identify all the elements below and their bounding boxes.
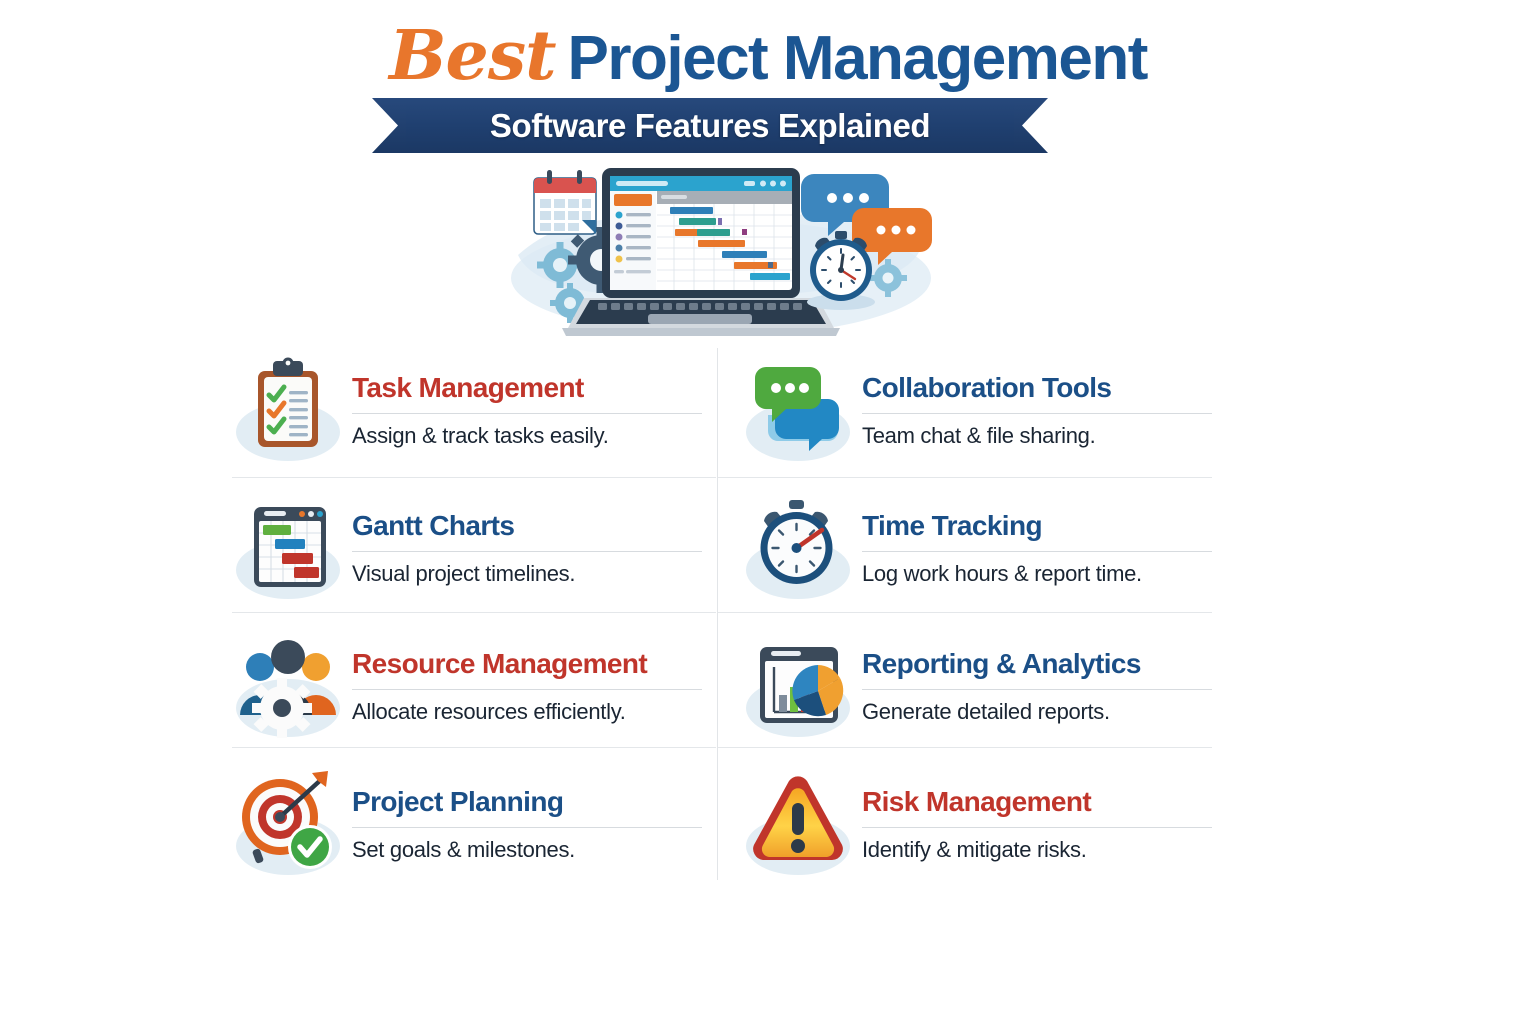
title-underline [862, 413, 1212, 414]
stopwatch-icon [742, 491, 858, 607]
feature-title: Time Tracking [862, 511, 1212, 540]
title-underline [352, 413, 702, 414]
warning-triangle-icon [742, 767, 858, 883]
hero-svg [498, 160, 944, 342]
feature-card-project-planning[interactable]: Project Planning Set goals & milestones. [232, 760, 702, 890]
feature-description: Allocate resources efficiently. [352, 699, 702, 725]
people-gear-icon [232, 629, 348, 745]
laptop-gantt-illustration [498, 160, 944, 342]
speech-bubbles-icon [742, 353, 858, 469]
title-main-words: Project Management [568, 24, 1147, 93]
feature-description: Generate detailed reports. [862, 699, 1212, 725]
feature-title: Reporting & Analytics [862, 649, 1212, 678]
feature-description: Set goals & milestones. [352, 837, 702, 863]
title-underline [352, 551, 702, 552]
laptop-gantt-screen [562, 168, 840, 336]
title-underline [862, 827, 1212, 828]
feature-card-time-tracking[interactable]: Time Tracking Log work hours & report ti… [742, 484, 1212, 614]
feature-card-gantt-charts[interactable]: Gantt Charts Visual project timelines. [232, 484, 702, 614]
feature-description: Log work hours & report time. [862, 561, 1212, 587]
ribbon-label: Software Features Explained [406, 98, 1014, 153]
clipboard-checklist-icon [232, 353, 348, 469]
feature-title: Risk Management [862, 787, 1212, 816]
row-divider [232, 477, 716, 478]
feature-title: Gantt Charts [352, 511, 702, 540]
feature-card-resource-management[interactable]: Resource Management Allocate resources e… [232, 622, 702, 752]
ribbon-right-notch [1012, 98, 1048, 153]
title-underline [352, 689, 702, 690]
feature-card-body: Project Planning Set goals & milestones. [348, 787, 702, 862]
feature-card-body: Collaboration Tools Team chat & file sha… [858, 373, 1212, 448]
infographic-page: BestProject Management Software Features… [0, 0, 1536, 1024]
feature-title: Collaboration Tools [862, 373, 1212, 402]
feature-title: Project Planning [352, 787, 702, 816]
ribbon-left-notch [372, 98, 408, 153]
feature-card-body: Gantt Charts Visual project timelines. [348, 511, 702, 586]
bar-pie-chart-icon [742, 629, 858, 745]
alarm-clock-icon [807, 231, 875, 310]
feature-card-body: Task Management Assign & track tasks eas… [348, 373, 702, 448]
feature-card-body: Reporting & Analytics Generate detailed … [858, 649, 1212, 724]
title-underline [862, 689, 1212, 690]
title-accent-word: Best [389, 16, 555, 96]
row-divider [718, 477, 1212, 478]
calendar-icon [534, 170, 596, 234]
title-underline [862, 551, 1212, 552]
feature-description: Assign & track tasks easily. [352, 423, 702, 449]
feature-card-reporting-analytics[interactable]: Reporting & Analytics Generate detailed … [742, 622, 1212, 752]
feature-description: Identify & mitigate risks. [862, 837, 1212, 863]
features-grid: Task Management Assign & track tasks eas… [232, 344, 1212, 884]
subtitle-ribbon: Software Features Explained [372, 98, 1048, 153]
gantt-window-icon [232, 491, 348, 607]
feature-card-task-management[interactable]: Task Management Assign & track tasks eas… [232, 346, 702, 476]
feature-description: Visual project timelines. [352, 561, 702, 587]
page-title: BestProject Management [0, 16, 1536, 96]
column-divider [717, 348, 718, 880]
target-arrow-check-icon [232, 767, 348, 883]
feature-card-risk-management[interactable]: Risk Management Identify & mitigate risk… [742, 760, 1212, 890]
feature-card-body: Resource Management Allocate resources e… [348, 649, 702, 724]
feature-card-collaboration-tools[interactable]: Collaboration Tools Team chat & file sha… [742, 346, 1212, 476]
feature-title: Task Management [352, 373, 702, 402]
title-underline [352, 827, 702, 828]
feature-card-body: Time Tracking Log work hours & report ti… [858, 511, 1212, 586]
feature-description: Team chat & file sharing. [862, 423, 1212, 449]
feature-card-body: Risk Management Identify & mitigate risk… [858, 787, 1212, 862]
feature-title: Resource Management [352, 649, 702, 678]
